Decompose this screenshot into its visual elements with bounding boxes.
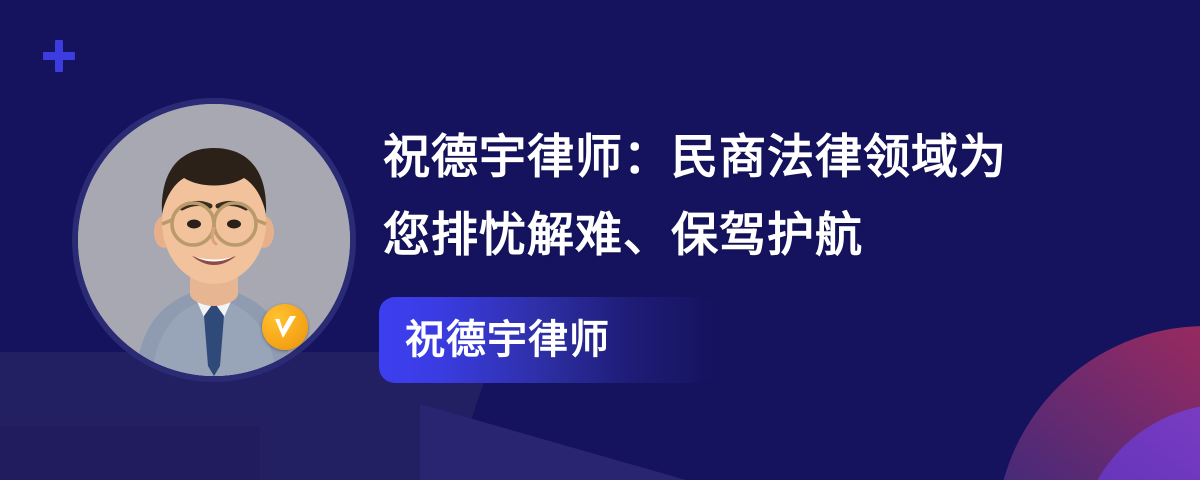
avatar[interactable]	[78, 104, 350, 376]
deco-wedge-triangle	[420, 404, 980, 480]
avatar-photo	[78, 104, 350, 376]
name-badge-label: 祝德宇律师	[405, 320, 610, 360]
plus-icon-bar-vertical	[55, 40, 63, 72]
name-badge[interactable]: 祝德宇律师	[379, 297, 715, 383]
verified-check-icon	[262, 304, 308, 350]
deco-circle-crimson	[996, 326, 1200, 480]
lawyer-profile-banner: 祝德宇律师：民商法律领域为您排忧解难、保驾护航 祝德宇律师	[0, 0, 1200, 480]
deco-wedge-bottom-left	[0, 426, 260, 480]
deco-circle-violet	[1078, 404, 1200, 480]
page-title: 祝德宇律师：民商法律领域为您排忧解难、保驾护航	[383, 118, 1023, 274]
plus-icon	[43, 40, 75, 72]
